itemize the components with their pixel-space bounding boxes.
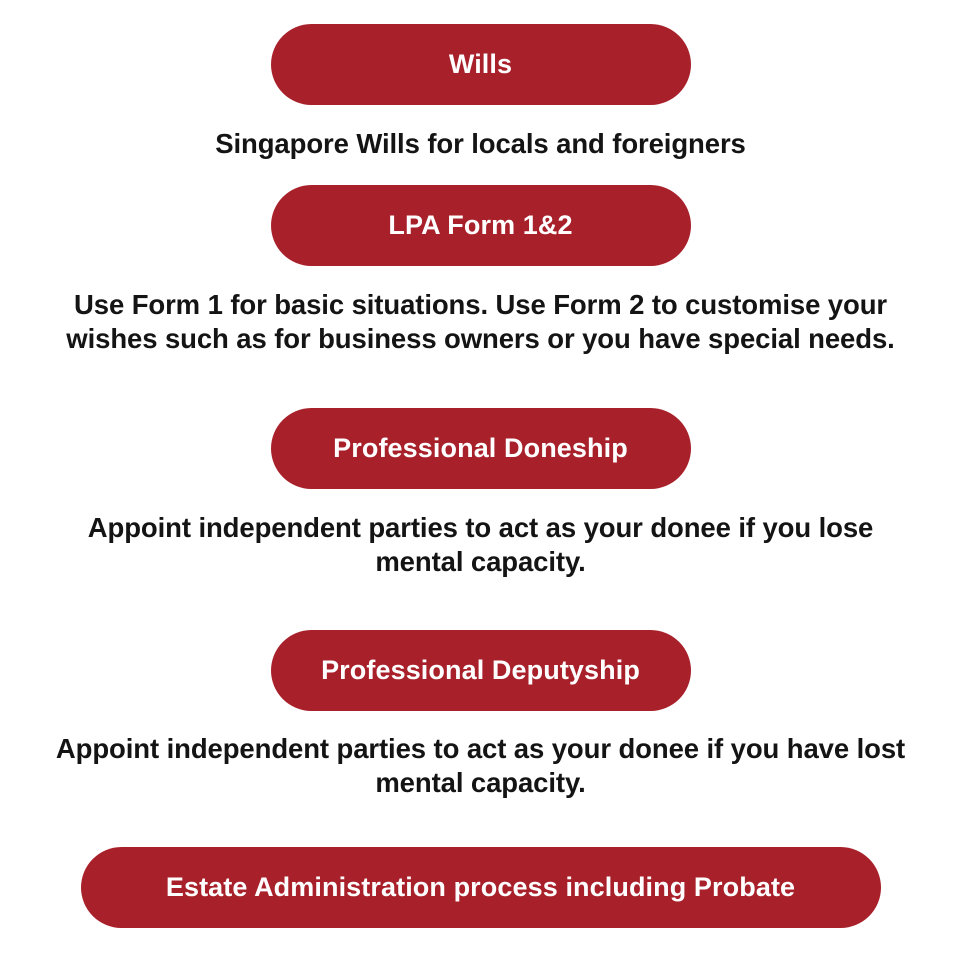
services-flow-board: Wills Singapore Wills for locals and for… [0, 0, 961, 961]
service-pill-label: LPA Form 1&2 [388, 212, 572, 239]
service-caption-professional-deputyship: Appoint independent parties to act as yo… [51, 732, 911, 800]
service-pill-professional-deputyship[interactable]: Professional Deputyship [271, 630, 691, 711]
service-caption-wills: Singapore Wills for locals and foreigner… [51, 127, 911, 161]
service-pill-label: Professional Deputyship [321, 657, 640, 684]
service-pill-label: Professional Doneship [333, 435, 628, 462]
service-pill-estate-administration[interactable]: Estate Administration process including … [81, 847, 881, 928]
service-caption-professional-doneship: Appoint independent parties to act as yo… [51, 511, 911, 579]
service-caption-lpa-form: Use Form 1 for basic situations. Use For… [51, 288, 911, 356]
service-pill-wills[interactable]: Wills [271, 24, 691, 105]
service-pill-label: Estate Administration process including … [166, 874, 795, 901]
service-pill-professional-doneship[interactable]: Professional Doneship [271, 408, 691, 489]
service-pill-label: Wills [449, 51, 512, 78]
service-pill-lpa-form[interactable]: LPA Form 1&2 [271, 185, 691, 266]
